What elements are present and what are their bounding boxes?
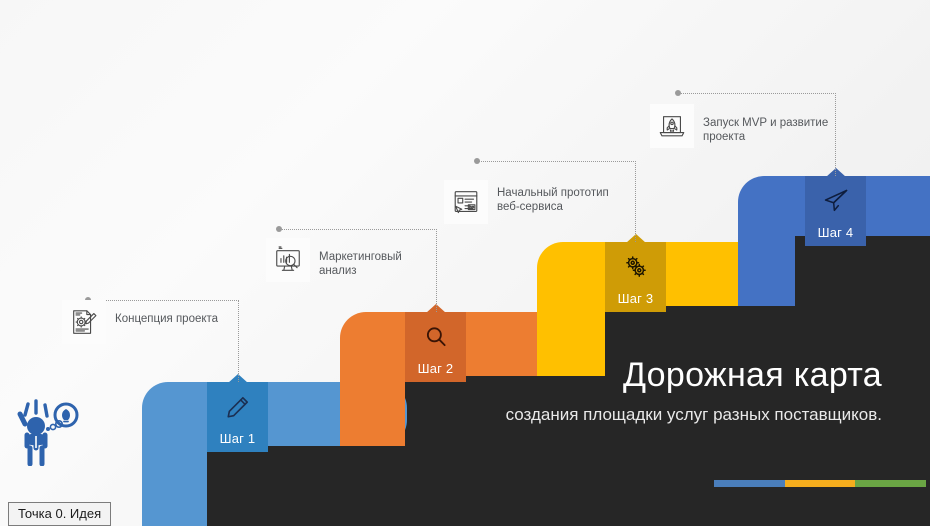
step-badge-label-1: Шаг 1 bbox=[220, 431, 256, 446]
callout-text-4: Запуск MVP и развитие проекта bbox=[703, 104, 828, 144]
connector-dot-3 bbox=[474, 158, 480, 164]
callout-text-1: Концепция проекта bbox=[115, 300, 218, 326]
monitor-chart-magnifier-icon bbox=[266, 238, 310, 282]
accent-segment-blue bbox=[714, 480, 785, 487]
step-badge-label-2: Шаг 2 bbox=[418, 361, 454, 376]
accent-bar bbox=[714, 480, 926, 487]
page-subtitle: создания площадки услуг разных поставщик… bbox=[482, 403, 882, 427]
callout-text-3: Начальный прототип веб-сервиса bbox=[497, 180, 609, 214]
laptop-rocket-icon bbox=[650, 104, 694, 148]
pencil-icon bbox=[207, 382, 268, 431]
start-point-label: Точка 0. Идея bbox=[8, 502, 111, 526]
connector-vertical-4 bbox=[835, 93, 836, 176]
callout-text-2: Маркетинговый анализ bbox=[319, 238, 402, 278]
connector-vertical-3 bbox=[635, 161, 636, 242]
roadmap-infographic: Шаг 1 Концепция проекта bbox=[0, 0, 930, 526]
step-badge-label-4: Шаг 4 bbox=[818, 225, 854, 240]
connector-dot-4 bbox=[675, 90, 681, 96]
step-badge-label-3: Шаг 3 bbox=[618, 291, 654, 306]
connector-dot-2 bbox=[276, 226, 282, 232]
step-riser-1 bbox=[142, 420, 207, 526]
connector-vertical-2 bbox=[436, 229, 437, 312]
title-block: Дорожная карта создания площадки услуг р… bbox=[482, 355, 882, 427]
magnifier-icon bbox=[405, 312, 466, 361]
connector-vertical-1 bbox=[238, 300, 239, 382]
connector-horizontal-2 bbox=[279, 229, 437, 230]
step-badge-3[interactable]: Шаг 3 bbox=[605, 242, 666, 312]
gears-icon bbox=[605, 242, 666, 291]
callout-4: Запуск MVP и развитие проекта bbox=[650, 104, 828, 148]
accent-segment-green bbox=[855, 480, 926, 487]
step-badge-2[interactable]: Шаг 2 bbox=[405, 312, 466, 382]
callout-3: Начальный прототип веб-сервиса bbox=[444, 180, 609, 224]
person-idea-lightbulb-icon bbox=[8, 396, 80, 471]
connector-horizontal-3 bbox=[477, 161, 636, 162]
document-gear-pen-icon bbox=[62, 300, 106, 344]
step-badge-1[interactable]: Шаг 1 bbox=[207, 382, 268, 452]
step-riser-2 bbox=[340, 350, 405, 446]
step-riser-4 bbox=[738, 214, 795, 306]
step-badge-4[interactable]: Шаг 4 bbox=[805, 176, 866, 246]
connector-horizontal-4 bbox=[678, 93, 836, 94]
page-title: Дорожная карта bbox=[482, 355, 882, 395]
paper-plane-icon bbox=[805, 176, 866, 225]
wireframe-cursor-icon bbox=[444, 180, 488, 224]
callout-2: Маркетинговый анализ bbox=[266, 238, 402, 282]
callout-1: Концепция проекта bbox=[62, 300, 218, 344]
accent-segment-orange bbox=[785, 480, 856, 487]
